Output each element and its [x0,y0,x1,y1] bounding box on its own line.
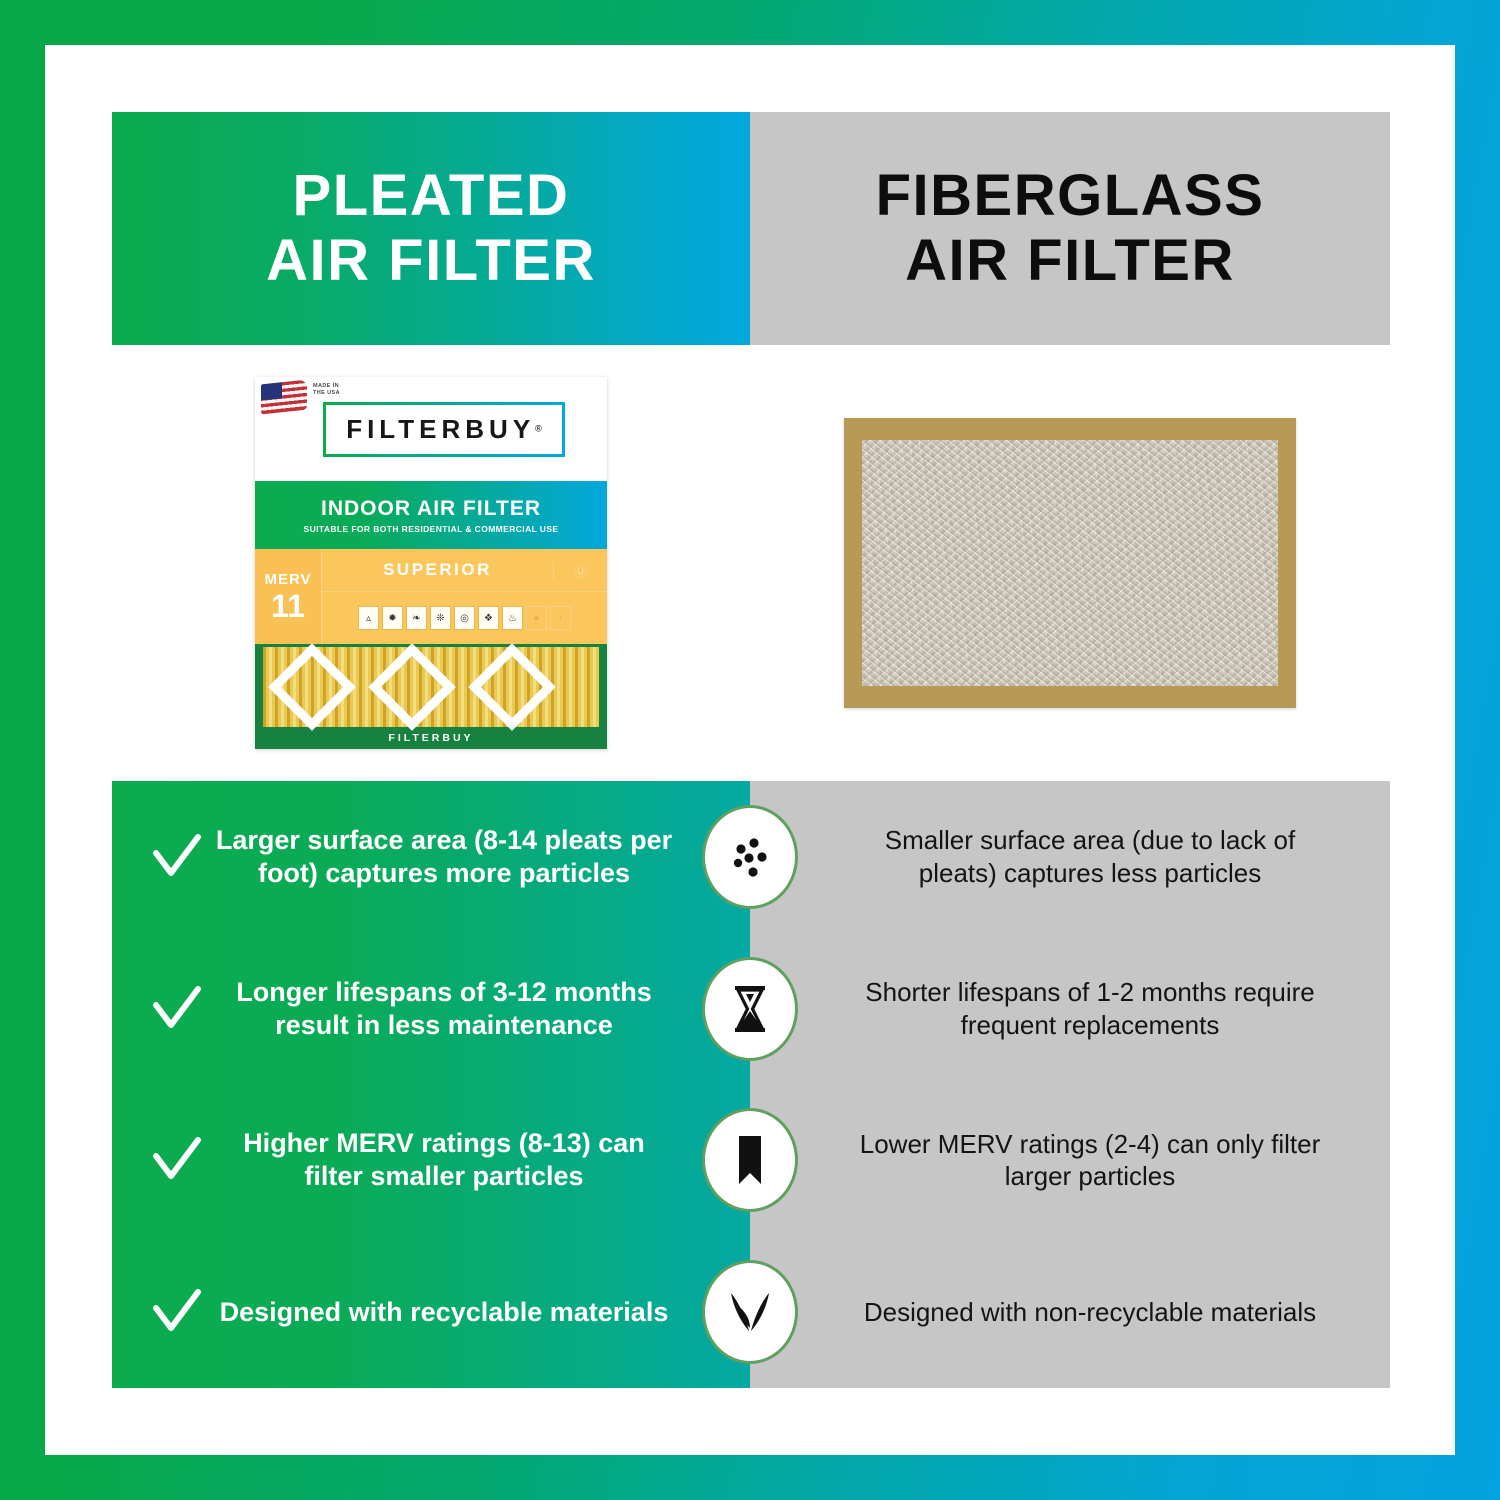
comparison-row: Designed with recyclable materials Desig… [112,1236,1390,1388]
leaf-icon [702,1260,798,1364]
pleated-benefit-text: Longer lifespans of 3-12 months result i… [214,976,720,1042]
support-diamond [468,644,556,731]
made-in-line2: THE USA [313,390,340,397]
merv-value: 11 [271,590,305,622]
fiberglass-title-line1: FIBERGLASS [876,163,1265,228]
pleated-title-line2: AIR FILTER [266,228,596,293]
pleated-benefit-cell: Designed with recyclable materials [112,1236,750,1388]
wire-support-grid [263,647,599,727]
particles-icon [702,805,798,909]
checkmark-icon [146,831,208,883]
package-feature-icons: ▵ ✹ ❧ ❊ ◎ ❖ ♨ ● ≀ [322,592,607,644]
comparison-row: Larger surface area (8-14 pleats per foo… [112,781,1390,933]
fiberglass-drawback-cell: Lower MERV ratings (2-4) can only filter… [750,1085,1390,1237]
pleated-benefit-cell: Longer lifespans of 3-12 months result i… [112,933,750,1085]
comparison-row: Higher MERV ratings (8-13) can filter sm… [112,1085,1390,1237]
checkmark-icon [146,1134,208,1186]
pleated-benefit-cell: Higher MERV ratings (8-13) can filter sm… [112,1085,750,1237]
feature-icon-insect: ✹ [382,606,403,630]
pleated-benefit-text: Designed with recyclable materials [214,1296,720,1329]
feature-icon-odor-disabled: ≀ [550,606,571,630]
package-product-band: INDOOR AIR FILTER SUITABLE FOR BOTH RESI… [255,481,607,549]
brand-logo-box: FILTERBUY® [323,402,565,457]
brand-registered-mark: ® [535,423,542,433]
feature-icon-bacteria: ◎ [454,606,475,630]
fiberglass-drawback-cell: Smaller surface area (due to lack of ple… [750,781,1390,933]
usa-flag-icon [261,380,307,415]
ribbon-icon [702,1108,798,1212]
package-tier-row: SUPERIOR Ⓤ [322,549,607,592]
feature-icon-pollen: ❧ [406,606,427,630]
brand-name: FILTERBUY [346,414,535,444]
merv-label: MERV [264,571,311,588]
support-diamond [368,644,456,731]
pleated-benefit-text: Larger surface area (8-14 pleats per foo… [214,824,720,890]
product-image-strip: MADE IN THE USA FILTERBUY® INDOOR AIR FI… [112,345,1390,781]
feature-icon-dust: ▵ [358,606,379,630]
merv-block: MERV 11 [255,549,322,644]
header-pleated-panel: PLEATED AIR FILTER [112,112,750,345]
fiberglass-media-texture [862,440,1278,686]
package-band-sub: SUITABLE FOR BOTH RESIDENTIAL & COMMERCI… [304,524,559,534]
made-in-usa-text: MADE IN THE USA [313,383,340,397]
ul-certification-icon: Ⓤ [553,561,607,580]
hourglass-icon [702,957,798,1061]
pleated-title: PLEATED AIR FILTER [266,164,596,294]
fiberglass-product-cell [750,345,1390,781]
fiberglass-filter-image [844,418,1296,708]
fiberglass-drawback-text: Lower MERV ratings (2-4) can only filter… [850,1128,1330,1193]
fiberglass-title-line2: AIR FILTER [905,228,1235,293]
package-header: MADE IN THE USA FILTERBUY® [255,377,607,481]
header-fiberglass-panel: FIBERGLASS AIR FILTER [750,112,1390,345]
filterbuy-package-image: MADE IN THE USA FILTERBUY® INDOOR AIR FI… [255,377,607,749]
tier-label: SUPERIOR [322,560,553,580]
pleated-title-line1: PLEATED [293,163,570,228]
checkmark-icon [146,1286,208,1338]
feature-icon-mold: ❊ [430,606,451,630]
pleated-product-cell: MADE IN THE USA FILTERBUY® INDOOR AIR FI… [112,345,750,781]
infographic-card: PLEATED AIR FILTER FIBERGLASS AIR FILTER… [45,45,1455,1455]
feature-icon-virus-disabled: ● [526,606,547,630]
comparison-row: Longer lifespans of 3-12 months result i… [112,933,1390,1085]
package-frame-label: FILTERBUY [255,732,607,749]
package-rating-band: MERV 11 SUPERIOR Ⓤ ▵ ✹ ❧ ❊ ◎ [255,549,607,644]
fiberglass-drawback-text: Designed with non-recyclable materials [864,1296,1316,1329]
package-band-main: INDOOR AIR FILTER [321,497,541,521]
header-bar: PLEATED AIR FILTER FIBERGLASS AIR FILTER [112,112,1390,345]
made-in-line1: MADE IN [313,383,340,390]
fiberglass-title: FIBERGLASS AIR FILTER [876,164,1265,294]
feature-icon-smoke: ♨ [502,606,523,630]
fiberglass-drawback-text: Shorter lifespans of 1-2 months require … [850,976,1330,1041]
fiberglass-drawback-text: Smaller surface area (due to lack of ple… [850,824,1330,889]
package-filter-media: FILTERBUY [255,644,607,749]
pleated-benefit-cell: Larger surface area (8-14 pleats per foo… [112,781,750,933]
package-tier-block: SUPERIOR Ⓤ ▵ ✹ ❧ ❊ ◎ ❖ ♨ ● ≀ [322,549,607,644]
pleated-benefit-text: Higher MERV ratings (8-13) can filter sm… [214,1127,720,1193]
fiberglass-drawback-cell: Designed with non-recyclable materials [750,1236,1390,1388]
checkmark-icon [146,983,208,1035]
comparison-table: Larger surface area (8-14 pleats per foo… [112,781,1390,1388]
fiberglass-drawback-cell: Shorter lifespans of 1-2 months require … [750,933,1390,1085]
feature-icon-pet-dander: ❖ [478,606,499,630]
support-diamond [268,644,356,731]
